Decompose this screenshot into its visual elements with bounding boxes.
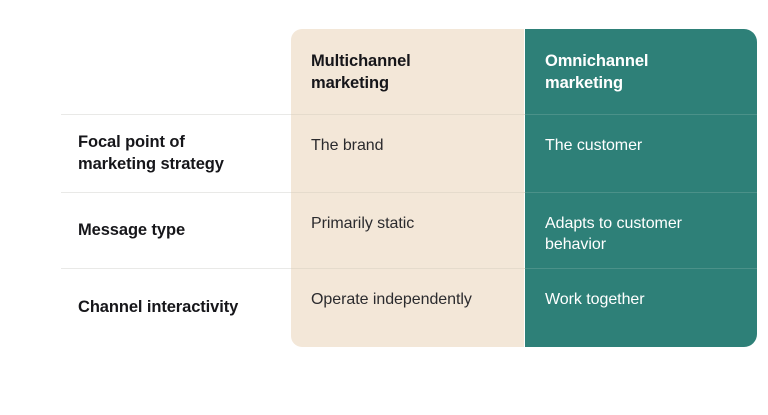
cell-omnichannel-focal-point: The customer	[525, 114, 757, 192]
column-header-multichannel: Multichannel marketing	[291, 29, 525, 114]
table-row: Channel interactivity	[61, 268, 291, 347]
table-row: Message type	[61, 192, 291, 268]
comparison-table: Multichannel marketing Omnichannel marke…	[61, 29, 757, 347]
comparison-table-figure: Multichannel marketing Omnichannel marke…	[0, 0, 768, 415]
cell-omnichannel-message-type: Adapts to customer behavior	[525, 192, 757, 268]
table-row: Focal point of marketing strategy	[61, 114, 291, 192]
cell-multichannel-focal-point: The brand	[291, 114, 525, 192]
cell-omnichannel-channel-interactivity: Work together	[525, 268, 757, 347]
column-header-omnichannel: Omnichannel marketing	[525, 29, 757, 114]
cell-multichannel-message-type: Primarily static	[291, 192, 525, 268]
table-corner-cell	[61, 29, 291, 114]
cell-multichannel-channel-interactivity: Operate independently	[291, 268, 525, 347]
